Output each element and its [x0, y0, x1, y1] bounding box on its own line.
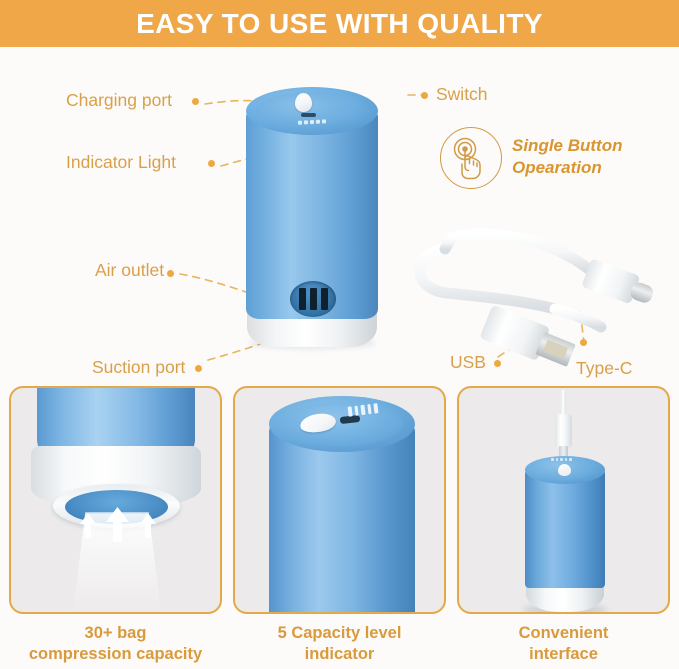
callout-label-indicator-light: Indicator Light [66, 152, 176, 173]
touch-tap-finger-icon [441, 128, 501, 188]
callout-dot-indicator-light [208, 160, 215, 167]
feature-panel-3-image [457, 386, 670, 614]
led-bar [322, 119, 326, 123]
feature-panel-2-caption: 5 Capacity level indicator [233, 623, 446, 665]
feature-panels-row: 30+ bag compression capacity [0, 386, 679, 669]
led-bar [560, 458, 563, 461]
led-bar [304, 120, 308, 124]
led-bar [298, 121, 302, 125]
callout-label-air-outlet: Air outlet [95, 260, 164, 281]
callout-dot-air-outlet [167, 270, 174, 277]
callout-label-switch: Switch [436, 84, 488, 105]
panel2-caption-line-1: 5 Capacity level [233, 623, 446, 644]
callout-dot-usb [494, 360, 501, 367]
led-bar [316, 120, 320, 124]
vent-slot [310, 288, 317, 310]
panel3-power-button [558, 464, 571, 476]
device-charging-port [301, 113, 316, 117]
panel1-caption-line-1: 30+ bag [9, 623, 222, 644]
device-air-outlet-vent [290, 281, 336, 317]
usb-cable-illustration [405, 197, 665, 372]
feature-panel-1-image [9, 386, 222, 614]
callout-label-charging-port: Charging port [66, 90, 172, 111]
header-banner: EASY TO USE WITH QUALITY [0, 0, 679, 47]
panel3-indicator-lights [551, 458, 572, 461]
led-bar [360, 405, 365, 415]
led-bar [565, 458, 568, 461]
panel3-usb-c-plug [555, 414, 572, 448]
led-bar [310, 120, 314, 124]
feature-panel-1-caption: 30+ bag compression capacity [9, 623, 222, 665]
hero-section: Charging port Indicator Light Air outlet… [0, 47, 679, 380]
led-bar [569, 458, 572, 461]
product-infographic-page: EASY TO USE WITH QUALITY [0, 0, 679, 669]
single-button-operation-badge: Single Button Opearation [440, 127, 655, 197]
airflow-arrow [106, 507, 129, 542]
product-device-main [238, 85, 386, 347]
led-bar [551, 458, 554, 461]
led-bar [367, 404, 372, 414]
feature-panel-2: 5 Capacity level indicator [233, 386, 446, 665]
sbo-line-1: Single Button [512, 135, 622, 157]
vent-slot [299, 288, 306, 310]
panel2-caption-line-2: indicator [233, 644, 446, 665]
airflow-arrow [80, 513, 96, 538]
sbo-line-2: Opearation [512, 157, 622, 179]
feature-panel-1: 30+ bag compression capacity [9, 386, 222, 665]
callout-dot-switch [421, 92, 428, 99]
feature-panel-3-caption: Convenient interface [457, 623, 670, 665]
feature-panel-3: Convenient interface [457, 386, 670, 665]
led-bar [556, 458, 559, 461]
device-power-button [295, 93, 312, 112]
panel1-device-blue-body [37, 386, 195, 454]
panel1-caption-line-2: compression capacity [9, 644, 222, 665]
panel3-caption-line-1: Convenient [457, 623, 670, 644]
callout-dot-type-c [580, 339, 587, 346]
vent-slot [321, 288, 328, 310]
callout-dot-suction-port [195, 365, 202, 372]
panel3-caption-line-2: interface [457, 644, 670, 665]
page-title: EASY TO USE WITH QUALITY [136, 8, 543, 40]
panel3-device-body [525, 466, 605, 588]
single-button-operation-text: Single Button Opearation [512, 135, 622, 179]
airflow-arrow [140, 513, 156, 538]
led-bar [348, 406, 353, 416]
led-bar [354, 406, 359, 416]
panel1-airflow-arrows [71, 500, 165, 556]
callout-label-suction-port: Suction port [92, 357, 185, 378]
callout-label-usb: USB [450, 352, 486, 373]
callout-label-type-c: Type-C [576, 358, 632, 379]
panel3-cable-cord [561, 390, 566, 416]
touch-icon-circle [440, 127, 502, 189]
callout-dot-charging-port [192, 98, 199, 105]
feature-panel-2-image [233, 386, 446, 614]
